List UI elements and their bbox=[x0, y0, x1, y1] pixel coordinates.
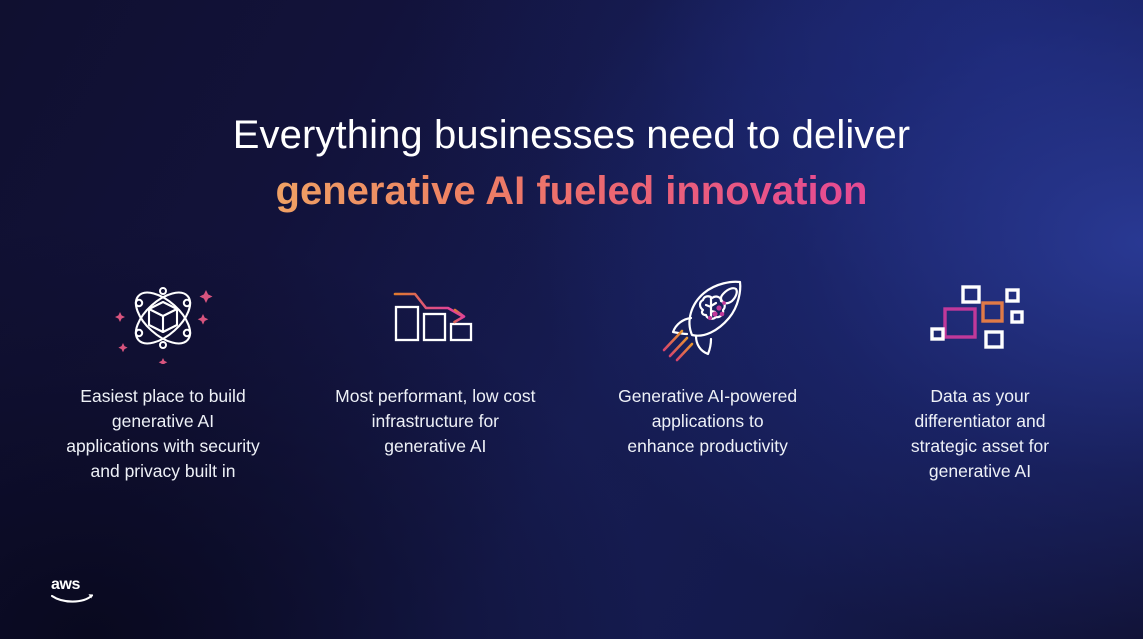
rocket-brain-icon bbox=[653, 272, 763, 364]
value-prop-caption-1: Easiest place to build generative AI app… bbox=[66, 384, 260, 483]
value-prop-column-3: Generative AI-powered applications to en… bbox=[573, 272, 843, 459]
title-block: Everything businesses need to deliver ge… bbox=[0, 112, 1143, 216]
value-prop-caption-3: Generative AI-powered applications to en… bbox=[618, 384, 797, 459]
value-prop-caption-4: Data as your differentiator and strategi… bbox=[911, 384, 1049, 483]
descending-bar-chart-icon bbox=[380, 272, 490, 364]
value-prop-column-2: Most performant, low cost infrastructure… bbox=[300, 272, 570, 459]
slide-canvas: Everything businesses need to deliver ge… bbox=[0, 0, 1143, 639]
aws-logo-text: aws bbox=[51, 576, 81, 593]
value-prop-column-1: Easiest place to build generative AI app… bbox=[28, 272, 298, 483]
value-prop-column-4: Data as your differentiator and strategi… bbox=[845, 272, 1115, 483]
value-props-row: Easiest place to build generative AI app… bbox=[28, 272, 1115, 483]
value-prop-caption-2: Most performant, low cost infrastructure… bbox=[335, 384, 535, 459]
page-title-line-2: generative AI fueled innovation bbox=[0, 167, 1143, 216]
atom-cube-icon bbox=[108, 272, 218, 364]
scattered-squares-icon bbox=[925, 272, 1035, 364]
aws-smile-arrow bbox=[52, 596, 92, 602]
aws-logo: aws bbox=[50, 574, 96, 604]
page-title-line-1: Everything businesses need to deliver bbox=[0, 112, 1143, 159]
